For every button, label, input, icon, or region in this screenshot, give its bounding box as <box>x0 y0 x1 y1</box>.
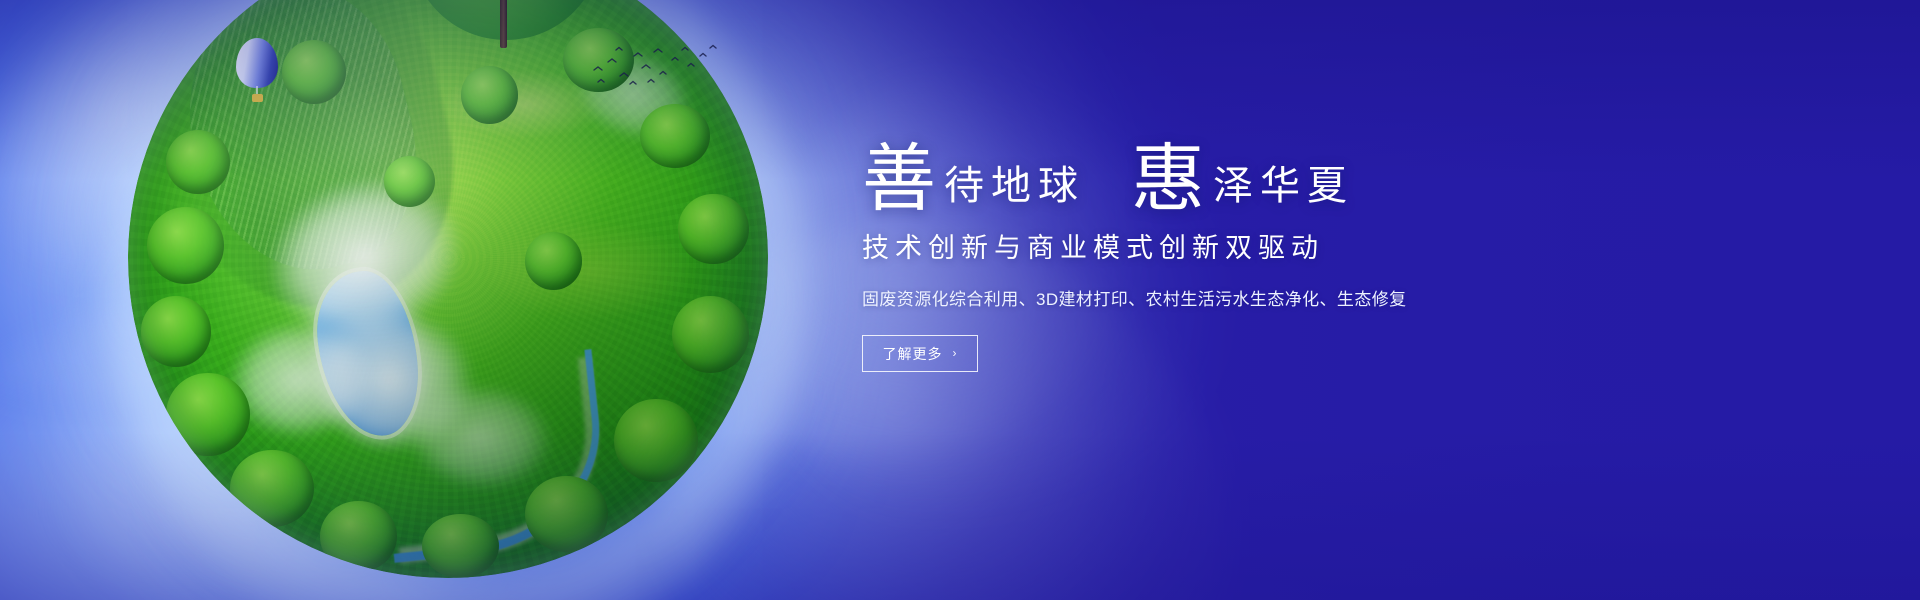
description: 固废资源化综合利用、3D建材打印、农村生活污水生态净化、生态修复 <box>862 285 1622 310</box>
headline-char-primary-1: 善 <box>862 145 936 216</box>
page-title: 善 待地球 惠 泽华夏 <box>862 120 1622 212</box>
hero-banner: 善 待地球 惠 泽华夏 技术创新与商业模式创新双驱动 固废资源化综合利用、3D建… <box>0 0 1920 600</box>
headline-char-primary-2: 惠 <box>1131 145 1205 216</box>
hero-content: 善 待地球 惠 泽华夏 技术创新与商业模式创新双驱动 固废资源化综合利用、3D建… <box>862 120 1622 372</box>
subtitle: 技术创新与商业模式创新双驱动 <box>862 226 1622 265</box>
chevron-right-icon: › <box>953 346 958 360</box>
headline-text-1: 待地球 <box>936 166 1085 212</box>
learn-more-label: 了解更多 <box>883 344 943 364</box>
headline-text-2: 泽华夏 <box>1205 166 1354 212</box>
learn-more-button[interactable]: 了解更多 › <box>862 335 978 372</box>
